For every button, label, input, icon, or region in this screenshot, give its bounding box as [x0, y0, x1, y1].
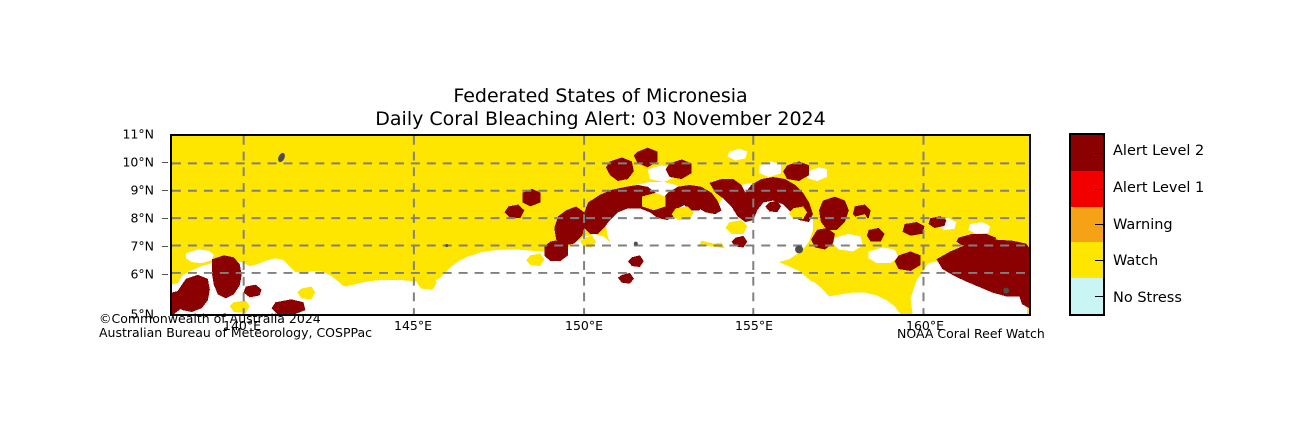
- attribution-right: NOAA Coral Reef Watch: [897, 327, 1045, 341]
- ytick-mark-7N: [162, 246, 168, 247]
- xtick-label-155E: 155°E: [735, 318, 773, 333]
- xtick-label-145E: 145°E: [394, 318, 432, 333]
- legend-label-watch: Watch: [1113, 253, 1158, 269]
- title-line-region: Federated States of Micronesia: [170, 85, 1031, 108]
- ytick-label-10N: 10°N: [122, 155, 154, 170]
- ytick-mark-10N: [162, 162, 168, 163]
- alert-level-legend-labels: Alert Level 2 Alert Level 1 Warning Watc…: [1113, 133, 1283, 316]
- alert-level-colorbar[interactable]: [1069, 133, 1105, 316]
- ytick-mark-9N: [162, 190, 168, 191]
- map-plot-area[interactable]: [170, 134, 1031, 316]
- title-line-product: Daily Coral Bleaching Alert: 03 November…: [170, 108, 1031, 131]
- map-raster-svg: [172, 136, 1029, 314]
- legend-swatch-warning[interactable]: [1071, 207, 1103, 243]
- ytick-label-6N: 6°N: [130, 267, 154, 282]
- ytick-label-11N: 11°N: [122, 127, 154, 142]
- latitude-axis: 11°N 10°N 9°N 8°N 7°N 6°N 5°N: [96, 134, 162, 316]
- page-title: Federated States of Micronesia Daily Cor…: [170, 85, 1031, 131]
- legend-tick-warning: [1095, 224, 1103, 225]
- legend-tick-alert-level-2: [1095, 153, 1103, 154]
- legend-swatch-no-stress[interactable]: [1071, 278, 1103, 314]
- coral-bleaching-alert-figure: Federated States of Micronesia Daily Cor…: [0, 0, 1293, 447]
- ytick-label-9N: 9°N: [130, 183, 154, 198]
- attribution-left: ©Commonwealth of Australia 2024 Australi…: [99, 312, 372, 340]
- legend-swatch-alert-level-2[interactable]: [1071, 135, 1103, 171]
- attribution-copyright: ©Commonwealth of Australia 2024: [99, 312, 372, 326]
- islet-mark-small: [445, 244, 448, 247]
- legend-label-warning: Warning: [1113, 217, 1173, 233]
- ytick-mark-8N: [162, 218, 168, 219]
- legend-label-alert-level-1: Alert Level 1: [1113, 180, 1204, 196]
- legend-tick-alert-level-1: [1095, 189, 1103, 190]
- legend-tick-no-stress: [1095, 296, 1103, 297]
- attribution-noaa: NOAA Coral Reef Watch: [897, 326, 1045, 341]
- islet-mark-chuuk: [634, 242, 638, 246]
- islet-mark-pohnpei: [795, 246, 803, 254]
- attribution-agency: Australian Bureau of Meteorology, COSPPa…: [99, 326, 372, 340]
- legend-label-no-stress: No Stress: [1113, 290, 1182, 306]
- legend-tick-watch: [1095, 260, 1103, 261]
- legend-label-alert-level-2: Alert Level 2: [1113, 143, 1204, 159]
- islet-mark-east: [1003, 288, 1009, 294]
- ytick-label-8N: 8°N: [130, 211, 154, 226]
- ytick-mark-6N: [162, 274, 168, 275]
- xtick-label-150E: 150°E: [565, 318, 603, 333]
- ytick-label-7N: 7°N: [130, 239, 154, 254]
- legend-swatch-alert-level-1[interactable]: [1071, 171, 1103, 207]
- legend-swatch-watch[interactable]: [1071, 242, 1103, 278]
